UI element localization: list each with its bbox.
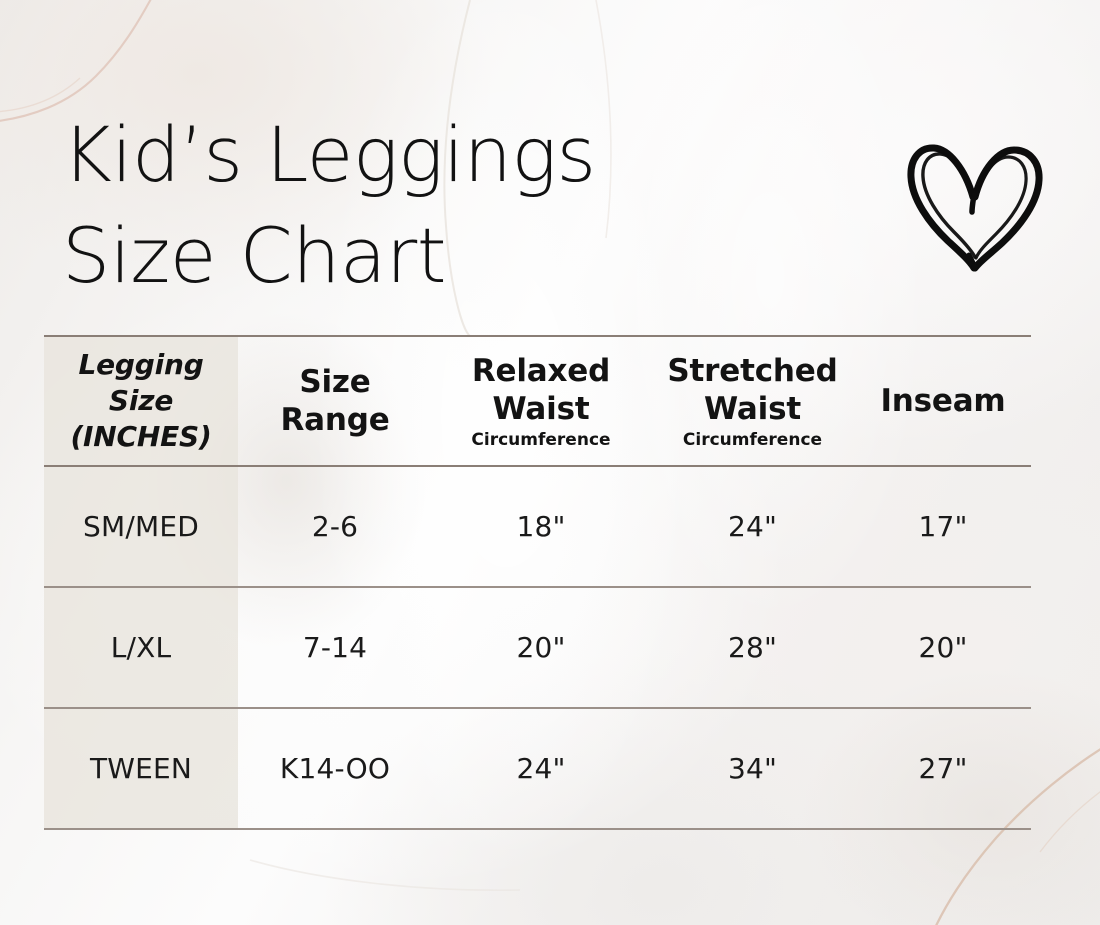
title-line-2: Size Chart	[62, 205, 762, 306]
heart-doodle-icon	[903, 129, 1047, 277]
header-legging-size-line1: Legging Size	[44, 347, 238, 419]
cell-relaxed-waist: 20"	[432, 587, 650, 708]
header-stretched-waist-subtitle: Circumference	[650, 429, 855, 451]
cell-inseam: 17"	[855, 466, 1031, 587]
cell-size-range: K14-OO	[238, 708, 432, 829]
cell-legging-size: SM/MED	[44, 466, 238, 587]
cell-legging-size: L/XL	[44, 587, 238, 708]
table-header-row: Legging Size (INCHES) Size Range Relaxed…	[44, 336, 1031, 466]
header-relaxed-waist: Relaxed Waist Circumference	[432, 336, 650, 466]
title-line-1: Kid’s Leggings	[62, 104, 762, 205]
header-legging-size-line2: (INCHES)	[44, 419, 238, 455]
page-title: Kid’s Leggings Size Chart	[62, 104, 762, 306]
size-chart-table: Legging Size (INCHES) Size Range Relaxed…	[44, 335, 1031, 830]
header-inseam: Inseam	[855, 336, 1031, 466]
cell-relaxed-waist: 18"	[432, 466, 650, 587]
header-stretched-waist-line2: Waist	[650, 390, 855, 428]
header-size-range-line2: Range	[238, 401, 432, 439]
header-size-range: Size Range	[238, 336, 432, 466]
header-legging-size: Legging Size (INCHES)	[44, 336, 238, 466]
table-row: L/XL 7-14 20" 28" 20"	[44, 587, 1031, 708]
header-relaxed-waist-line1: Relaxed	[432, 352, 650, 390]
cell-stretched-waist: 34"	[650, 708, 855, 829]
header-relaxed-waist-line2: Waist	[432, 390, 650, 428]
cell-relaxed-waist: 24"	[432, 708, 650, 829]
table-row: SM/MED 2-6 18" 24" 17"	[44, 466, 1031, 587]
cell-legging-size: TWEEN	[44, 708, 238, 829]
header-stretched-waist: Stretched Waist Circumference	[650, 336, 855, 466]
cell-size-range: 2-6	[238, 466, 432, 587]
header-relaxed-waist-subtitle: Circumference	[432, 429, 650, 451]
header-stretched-waist-line1: Stretched	[650, 352, 855, 390]
cell-stretched-waist: 28"	[650, 587, 855, 708]
cell-size-range: 7-14	[238, 587, 432, 708]
table-row: TWEEN K14-OO 24" 34" 27"	[44, 708, 1031, 829]
header-size-range-line1: Size	[238, 363, 432, 401]
size-chart-page: Kid’s Leggings Size Chart Legging Size (…	[0, 0, 1100, 925]
cell-stretched-waist: 24"	[650, 466, 855, 587]
cell-inseam: 27"	[855, 708, 1031, 829]
cell-inseam: 20"	[855, 587, 1031, 708]
header-inseam-label: Inseam	[855, 382, 1031, 420]
